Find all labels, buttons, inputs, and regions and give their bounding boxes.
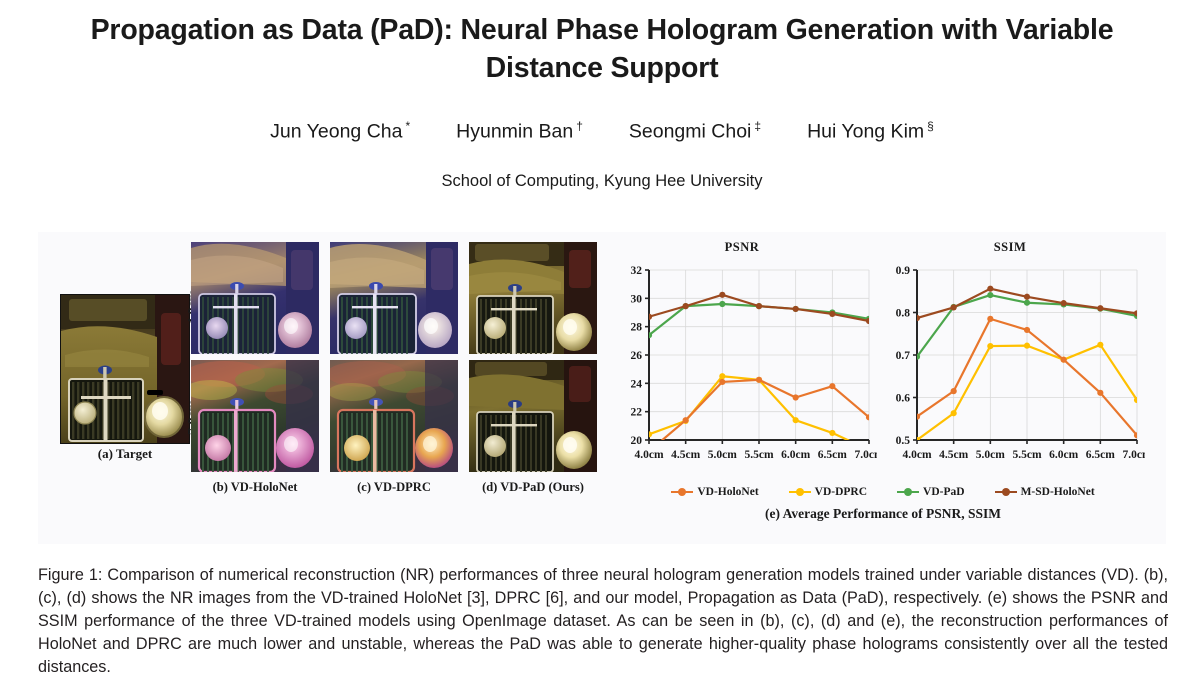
column-captions: (b) VD-HoloNet (c) VD-DPRC (d) VD-PaD (O…: [191, 480, 597, 495]
svg-text:20: 20: [631, 435, 643, 447]
panel-a-target: (a) Target: [60, 294, 190, 466]
figure-1: (a) Target 4.0cm 7.0cm: [38, 232, 1166, 544]
legend-label-vd-holonet: VD-HoloNet: [697, 486, 758, 498]
svg-text:5.5cm: 5.5cm: [1012, 449, 1041, 461]
panel-a-caption: (a) Target: [60, 446, 190, 462]
svg-text:4.5cm: 4.5cm: [939, 449, 968, 461]
svg-text:0.5: 0.5: [896, 435, 911, 447]
svg-text:5.5cm: 5.5cm: [744, 449, 773, 461]
svg-text:7.0cm: 7.0cm: [1122, 449, 1145, 461]
target-image: [60, 294, 190, 444]
affiliation: School of Computing, Kyung Hee Universit…: [38, 172, 1166, 191]
legend-swatch-vd-holonet: [671, 488, 693, 497]
recon-holonet-4cm: [191, 242, 319, 354]
svg-text:6.0cm: 6.0cm: [781, 449, 810, 461]
legend-label-m-sd-holonet: M-SD-HoloNet: [1021, 486, 1095, 498]
chart-psnr-plot: 202224262830324.0cm4.5cm5.0cm5.5cm6.0cm6…: [607, 262, 877, 474]
recon-holonet-7cm: [191, 360, 319, 472]
page-title: Propagation as Data (PaD): Neural Phase …: [38, 12, 1166, 88]
svg-text:7.0cm: 7.0cm: [854, 449, 877, 461]
svg-text:5.0cm: 5.0cm: [708, 449, 737, 461]
author-2: Hyunmin Ban†: [433, 119, 606, 144]
figure-caption: Figure 1: Comparison of numerical recons…: [38, 564, 1168, 679]
author-2-mark: †: [576, 119, 583, 133]
svg-text:0.8: 0.8: [896, 308, 911, 320]
author-1-mark: *: [405, 119, 410, 133]
panel-d-caption-ours: (Ours): [549, 480, 584, 494]
legend-label-vd-pad: VD-PaD: [923, 486, 965, 498]
panel-c-caption: (c) VD-DPRC: [330, 480, 458, 495]
legend-item-vd-pad: VD-PaD: [897, 486, 965, 498]
svg-text:0.9: 0.9: [896, 265, 911, 277]
chart-ssim: SSIM 0.50.60.70.80.94.0cm4.5cm5.0cm5.5cm…: [875, 238, 1145, 474]
panel-e-charts: PSNR 202224262830324.0cm4.5cm5.0cm5.5cm6…: [603, 238, 1163, 538]
legend-item-vd-holonet: VD-HoloNet: [671, 486, 758, 498]
author-4-name: Hui Yong Kim: [807, 121, 924, 143]
svg-text:30: 30: [631, 293, 643, 305]
svg-text:32: 32: [631, 265, 643, 277]
chart-legend: VD-HoloNet VD-DPRC VD-PaD M-SD-HoloNet: [603, 486, 1163, 498]
svg-text:22: 22: [631, 407, 643, 419]
svg-text:28: 28: [631, 322, 643, 334]
recon-image: [330, 242, 458, 354]
svg-text:6.0cm: 6.0cm: [1049, 449, 1078, 461]
svg-text:0.6: 0.6: [896, 393, 911, 405]
author-3-name: Seongmi Choi: [629, 121, 751, 143]
author-2-name: Hyunmin Ban: [456, 121, 573, 143]
chart-psnr: PSNR 202224262830324.0cm4.5cm5.0cm5.5cm6…: [607, 238, 877, 474]
svg-text:6.5cm: 6.5cm: [818, 449, 847, 461]
svg-text:5.0cm: 5.0cm: [976, 449, 1005, 461]
recon-dprc-7cm: [330, 360, 458, 472]
author-3: Seongmi Choi‡: [606, 119, 784, 144]
author-4-mark: §: [927, 119, 934, 133]
svg-text:4.0cm: 4.0cm: [634, 449, 663, 461]
psnr-svg: 202224262830324.0cm4.5cm5.0cm5.5cm6.0cm6…: [607, 262, 877, 474]
recon-dprc-4cm: [330, 242, 458, 354]
recon-pad-4cm: [469, 242, 597, 354]
author-1-name: Jun Yeong Cha: [270, 121, 402, 143]
legend-swatch-m-sd-holonet: [995, 488, 1017, 497]
reconstruction-grid: [191, 242, 597, 472]
svg-text:4.5cm: 4.5cm: [671, 449, 700, 461]
svg-text:0.7: 0.7: [896, 350, 911, 362]
svg-text:26: 26: [631, 350, 643, 362]
panel-d-caption: (d) VD-PaD (Ours): [469, 480, 597, 495]
author-4: Hui Yong Kim§: [784, 119, 957, 144]
recon-image: [469, 360, 597, 472]
panel-e-caption: (e) Average Performance of PSNR, SSIM: [603, 506, 1163, 522]
legend-swatch-vd-pad: [897, 488, 919, 497]
legend-item-vd-dprc: VD-DPRC: [789, 486, 867, 498]
legend-swatch-vd-dprc: [789, 488, 811, 497]
legend-item-m-sd-holonet: M-SD-HoloNet: [995, 486, 1095, 498]
author-list: Jun Yeong Cha* Hyunmin Ban† Seongmi Choi…: [38, 119, 1166, 144]
legend-label-vd-dprc: VD-DPRC: [815, 486, 867, 498]
svg-text:6.5cm: 6.5cm: [1086, 449, 1115, 461]
chart-ssim-plot: 0.50.60.70.80.94.0cm4.5cm5.0cm5.5cm6.0cm…: [875, 262, 1145, 474]
recon-image: [191, 242, 319, 354]
svg-text:4.0cm: 4.0cm: [902, 449, 931, 461]
ssim-svg: 0.50.60.70.80.94.0cm4.5cm5.0cm5.5cm6.0cm…: [875, 262, 1145, 474]
author-1: Jun Yeong Cha*: [247, 119, 433, 144]
recon-image: [330, 360, 458, 472]
paper-page: Propagation as Data (PaD): Neural Phase …: [0, 0, 1203, 694]
panel-d-caption-main: (d) VD-PaD: [482, 480, 545, 494]
recon-image: [191, 360, 319, 472]
target-car-image: [61, 295, 189, 443]
chart-psnr-title: PSNR: [607, 240, 877, 255]
recon-pad-7cm: [469, 360, 597, 472]
svg-text:24: 24: [631, 378, 643, 390]
panel-b-caption: (b) VD-HoloNet: [191, 480, 319, 495]
author-3-mark: ‡: [754, 119, 761, 133]
recon-image: [469, 242, 597, 354]
chart-ssim-title: SSIM: [875, 240, 1145, 255]
